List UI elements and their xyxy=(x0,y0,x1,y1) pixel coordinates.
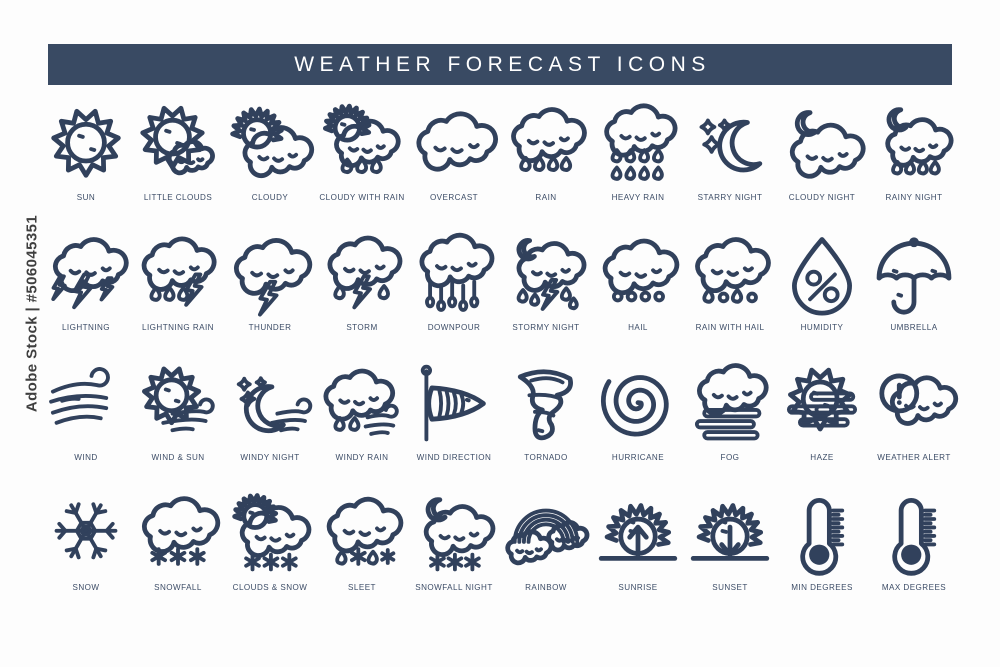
icon-cell-sun[interactable]: SUN xyxy=(40,100,132,230)
watermark-text: Adobe Stock | #506045351 xyxy=(24,164,41,464)
cloud-icon[interactable] xyxy=(408,100,500,188)
wind-icon[interactable] xyxy=(40,360,132,448)
sun-small-cloud-icon[interactable] xyxy=(132,100,224,188)
rainbow-icon[interactable] xyxy=(500,490,592,578)
windsock-icon[interactable] xyxy=(408,360,500,448)
icon-label: LITTLE CLOUDS xyxy=(144,192,212,203)
moon-cloud-snow-icon[interactable] xyxy=(408,490,500,578)
icon-label: STARRY NIGHT xyxy=(698,192,763,203)
icon-label: WINDY NIGHT xyxy=(240,452,299,463)
moon-cloud-rain-icon[interactable] xyxy=(868,100,960,188)
cloud-thunder-icon[interactable] xyxy=(224,230,316,318)
icon-label: UMBRELLA xyxy=(890,322,937,333)
icon-cell-cloudy-with-rain[interactable]: CLOUDY WITH RAIN xyxy=(316,100,408,230)
icon-cell-windy-night[interactable]: WINDY NIGHT xyxy=(224,360,316,490)
moon-wind-icon[interactable] xyxy=(224,360,316,448)
icon-cell-overcast[interactable]: OVERCAST xyxy=(408,100,500,230)
icon-label: THUNDER xyxy=(249,322,292,333)
icon-label: WIND DIRECTION xyxy=(417,452,492,463)
cloud-sleet-icon[interactable] xyxy=(316,490,408,578)
icon-label: HURRICANE xyxy=(612,452,664,463)
icon-label: WIND xyxy=(74,452,97,463)
icon-label: RAINBOW xyxy=(525,582,567,593)
icon-cell-snow[interactable]: SNOW xyxy=(40,490,132,620)
icon-cell-storm[interactable]: STORM xyxy=(316,230,408,360)
icon-label: RAIN xyxy=(535,192,556,203)
icon-cell-lightning-rain[interactable]: LIGHTNING RAIN xyxy=(132,230,224,360)
icon-cell-rainy-night[interactable]: RAINY NIGHT xyxy=(868,100,960,230)
icon-cell-wind-and-sun[interactable]: WIND & SUN xyxy=(132,360,224,490)
icon-cell-cloudy-night[interactable]: CLOUDY NIGHT xyxy=(776,100,868,230)
icon-cell-sunset[interactable]: SUNSET xyxy=(684,490,776,620)
icon-cell-starry-night[interactable]: STARRY NIGHT xyxy=(684,100,776,230)
cloud-heavy-rain-icon[interactable] xyxy=(592,100,684,188)
page-title: WEATHER FORECAST ICONS xyxy=(289,53,711,77)
icon-cell-wind[interactable]: WIND xyxy=(40,360,132,490)
watermark: Adobe Stock | #506045351 xyxy=(0,0,40,667)
icon-cell-weather-alert[interactable]: WEATHER ALERT xyxy=(868,360,960,490)
cloud-fog-icon[interactable] xyxy=(684,360,776,448)
icon-label: FOG xyxy=(721,452,740,463)
cloud-lightning-icon[interactable] xyxy=(40,230,132,318)
icon-label: SUNSET xyxy=(712,582,748,593)
icon-cell-lightning[interactable]: LIGHTNING xyxy=(40,230,132,360)
icon-label: LIGHTNING RAIN xyxy=(142,322,214,333)
header-banner: WEATHER FORECAST ICONS xyxy=(48,44,952,85)
cloud-alert-icon[interactable] xyxy=(868,360,960,448)
icon-label: CLOUDY NIGHT xyxy=(789,192,855,203)
icon-label: SNOWFALL NIGHT xyxy=(415,582,493,593)
sunset-icon[interactable] xyxy=(684,490,776,578)
icon-cell-hail[interactable]: HAIL xyxy=(592,230,684,360)
poster-page: Adobe Stock | #506045351 WEATHER FORECAS… xyxy=(0,0,1000,667)
icon-cell-snowfall[interactable]: SNOWFALL xyxy=(132,490,224,620)
icon-cell-downpour[interactable]: DOWNPOUR xyxy=(408,230,500,360)
sunrise-icon[interactable] xyxy=(592,490,684,578)
droplet-percent-icon[interactable] xyxy=(776,230,868,318)
moon-stars-icon[interactable] xyxy=(684,100,776,188)
icon-cell-max-degrees[interactable]: MAX DEGREES xyxy=(868,490,960,620)
icon-cell-little-clouds[interactable]: LITTLE CLOUDS xyxy=(132,100,224,230)
cloud-storm-icon[interactable] xyxy=(316,230,408,318)
icon-label: STORM xyxy=(346,322,377,333)
icon-label: DOWNPOUR xyxy=(428,322,481,333)
snowflake-icon[interactable] xyxy=(40,490,132,578)
tornado-icon[interactable] xyxy=(500,360,592,448)
icon-cell-cloudy[interactable]: CLOUDY xyxy=(224,100,316,230)
icon-cell-fog[interactable]: FOG xyxy=(684,360,776,490)
icon-grid: SUNLITTLE CLOUDSCLOUDYCLOUDY WITH RAINOV… xyxy=(40,100,960,630)
icon-label: LIGHTNING xyxy=(62,322,110,333)
icon-cell-rain[interactable]: RAIN xyxy=(500,100,592,230)
sun-icon[interactable] xyxy=(40,100,132,188)
icon-cell-tornado[interactable]: TORNADO xyxy=(500,360,592,490)
icon-label: CLOUDS & SNOW xyxy=(233,582,308,593)
hurricane-spiral-icon[interactable] xyxy=(592,360,684,448)
icon-cell-min-degrees[interactable]: MIN DEGREES xyxy=(776,490,868,620)
umbrella-icon[interactable] xyxy=(868,230,960,318)
icon-cell-haze[interactable]: HAZE xyxy=(776,360,868,490)
icon-cell-rain-with-hail[interactable]: RAIN WITH HAIL xyxy=(684,230,776,360)
icon-cell-stormy-night[interactable]: STORMY NIGHT xyxy=(500,230,592,360)
icon-label: WINDY RAIN xyxy=(336,452,389,463)
cloud-lightning-rain-icon[interactable] xyxy=(132,230,224,318)
icon-label: SNOW xyxy=(73,582,100,593)
icon-cell-clouds-and-snow[interactable]: CLOUDS & SNOW xyxy=(224,490,316,620)
moon-cloud-storm-icon[interactable] xyxy=(500,230,592,318)
icon-cell-windy-rain[interactable]: WINDY RAIN xyxy=(316,360,408,490)
icon-cell-rainbow[interactable]: RAINBOW xyxy=(500,490,592,620)
cloud-wind-rain-icon[interactable] xyxy=(316,360,408,448)
sun-haze-icon[interactable] xyxy=(776,360,868,448)
icon-label: HAZE xyxy=(810,452,833,463)
cloud-hail-icon[interactable] xyxy=(592,230,684,318)
moon-cloud-icon[interactable] xyxy=(776,100,868,188)
cloud-rain-icon[interactable] xyxy=(500,100,592,188)
icon-label: MIN DEGREES xyxy=(791,582,853,593)
icon-cell-sleet[interactable]: SLEET xyxy=(316,490,408,620)
icon-label: TORNADO xyxy=(524,452,567,463)
icon-label: SUNRISE xyxy=(618,582,657,593)
icon-label: SUN xyxy=(77,192,95,203)
icon-label: MAX DEGREES xyxy=(882,582,946,593)
sun-cloud-snow-icon[interactable] xyxy=(224,490,316,578)
icon-cell-heavy-rain[interactable]: HEAVY RAIN xyxy=(592,100,684,230)
icon-cell-sunrise[interactable]: SUNRISE xyxy=(592,490,684,620)
icon-label: RAINY NIGHT xyxy=(886,192,943,203)
icon-label: WEATHER ALERT xyxy=(877,452,950,463)
icon-label: STORMY NIGHT xyxy=(512,322,579,333)
icon-label: CLOUDY xyxy=(252,192,288,203)
icon-label: RAIN WITH HAIL xyxy=(696,322,765,333)
sun-cloud-rain-icon[interactable] xyxy=(316,100,408,188)
icon-label: HAIL xyxy=(628,322,648,333)
icon-label: SNOWFALL xyxy=(154,582,202,593)
icon-label: CLOUDY WITH RAIN xyxy=(319,192,404,203)
icon-cell-snowfall-night[interactable]: SNOWFALL NIGHT xyxy=(408,490,500,620)
icon-label: SLEET xyxy=(348,582,376,593)
icon-label: WIND & SUN xyxy=(151,452,204,463)
cloud-rain-hail-icon[interactable] xyxy=(684,230,776,318)
icon-label: HEAVY RAIN xyxy=(612,192,665,203)
thermometer-low-icon[interactable] xyxy=(776,490,868,578)
sun-cloud-icon[interactable] xyxy=(224,100,316,188)
icon-cell-thunder[interactable]: THUNDER xyxy=(224,230,316,360)
thermometer-high-icon[interactable] xyxy=(868,490,960,578)
cloud-snow-icon[interactable] xyxy=(132,490,224,578)
icon-cell-humidity[interactable]: HUMIDITY xyxy=(776,230,868,360)
icon-cell-umbrella[interactable]: UMBRELLA xyxy=(868,230,960,360)
icon-cell-wind-direction[interactable]: WIND DIRECTION xyxy=(408,360,500,490)
icon-label: HUMIDITY xyxy=(801,322,844,333)
icon-label: OVERCAST xyxy=(430,192,478,203)
icon-cell-hurricane[interactable]: HURRICANE xyxy=(592,360,684,490)
sun-wind-icon[interactable] xyxy=(132,360,224,448)
cloud-downpour-icon[interactable] xyxy=(408,230,500,318)
